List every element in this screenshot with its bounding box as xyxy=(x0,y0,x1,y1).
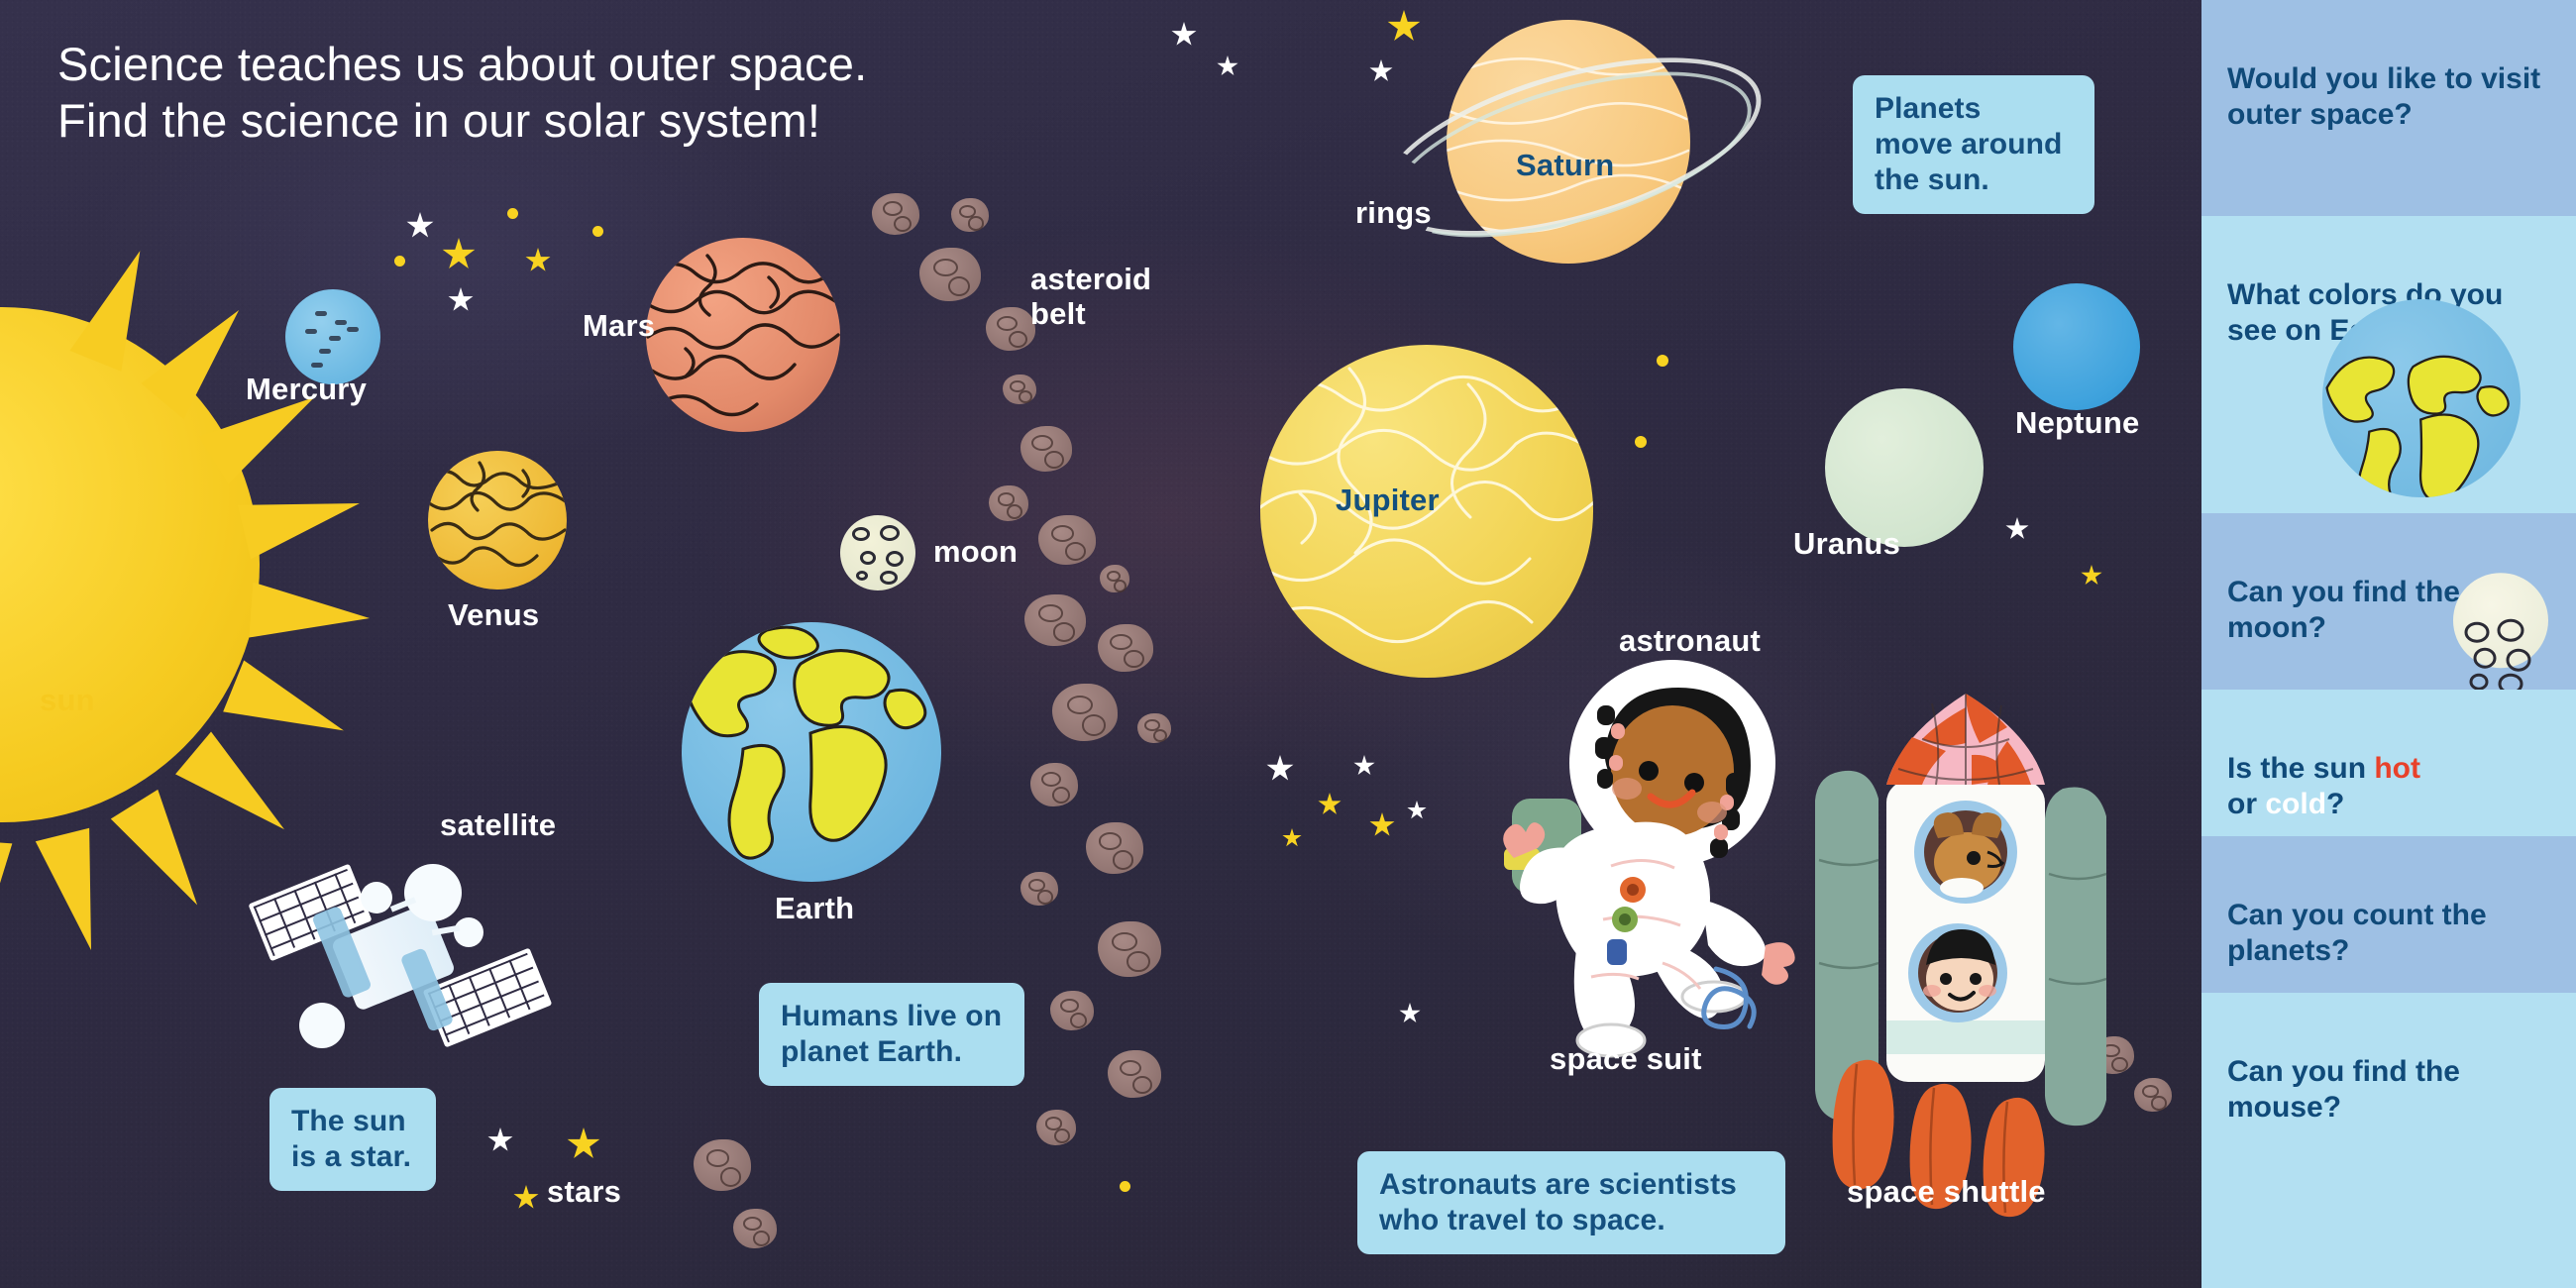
asteroid xyxy=(1108,1050,1161,1098)
asteroid xyxy=(986,307,1035,351)
star-icon xyxy=(1318,793,1342,816)
label-satellite: satellite xyxy=(440,808,556,843)
earth-thumbnail xyxy=(2322,299,2521,497)
label-stars: stars xyxy=(547,1175,621,1210)
sidebar-item-sun-hot-cold[interactable]: Is the sun hot or cold? xyxy=(2201,690,2576,836)
asteroid xyxy=(1050,991,1094,1030)
label-mars: Mars xyxy=(583,309,655,344)
star-icon xyxy=(567,1127,600,1161)
sun-ray xyxy=(36,828,118,957)
questions-sidebar: Would you like to visit outer space? Wha… xyxy=(2201,0,2576,1288)
asteroid xyxy=(733,1209,777,1248)
headline-line-1: Science teaches us about outer space. xyxy=(57,36,867,92)
callout-sun-star: The sun is a star. xyxy=(269,1088,436,1191)
sidebar-question-text: Would you like to visit outer space? xyxy=(2227,62,2540,131)
space-scene: Science teaches us about outer space. Fi… xyxy=(0,0,2201,1288)
asteroid xyxy=(1038,515,1096,565)
page-title: Science teaches us about outer space. Fi… xyxy=(57,36,867,150)
star-icon xyxy=(442,238,476,271)
label-neptune: Neptune xyxy=(2015,406,2139,441)
star-dot xyxy=(592,226,603,237)
asteroid xyxy=(872,193,919,235)
sidebar-question-text: Can you find the mouse? xyxy=(2227,1055,2460,1124)
sun-ray xyxy=(0,839,12,962)
planet-mercury xyxy=(285,289,380,384)
star-dot xyxy=(507,208,518,219)
sidebar-question-text: Is the sun hot or cold? xyxy=(2227,752,2420,820)
star-icon xyxy=(1171,22,1197,48)
label-moon: moon xyxy=(933,535,1018,570)
sidebar-question-text: Can you find the moon? xyxy=(2227,576,2460,644)
asteroid xyxy=(1036,1110,1076,1145)
question-fragment-normal: Is the sun xyxy=(2227,752,2374,785)
star-dot xyxy=(1635,436,1647,448)
label-jupiter: Jupiter xyxy=(1336,483,1440,518)
star-icon xyxy=(1217,55,1238,77)
label-earth: Earth xyxy=(775,892,854,926)
space-shuttle-illustration xyxy=(1813,694,2150,1248)
label-asteroid-belt: asteroid belt xyxy=(1030,263,1151,331)
asteroid xyxy=(1086,822,1143,874)
sidebar-item-visit-space[interactable]: Would you like to visit outer space? xyxy=(2201,0,2576,216)
asteroid xyxy=(1100,565,1129,592)
question-fragment-cold: cold xyxy=(2265,788,2326,820)
label-uranus: Uranus xyxy=(1793,527,1900,562)
label-rings: rings xyxy=(1355,196,1432,231)
star-icon xyxy=(2081,565,2102,587)
asteroid xyxy=(1030,763,1078,806)
planet-venus xyxy=(428,451,567,590)
sun-ray xyxy=(249,583,372,646)
sun-ray xyxy=(69,241,165,372)
star-icon xyxy=(1399,1003,1421,1024)
sidebar-question-text: Can you count the planets? xyxy=(2227,899,2487,967)
satellite-illustration xyxy=(256,858,553,1056)
asteroid xyxy=(1137,713,1171,743)
sidebar-item-find-moon[interactable]: Can you find the moon? xyxy=(2201,513,2576,690)
label-sun: sun xyxy=(40,684,95,718)
star-dot xyxy=(1120,1181,1130,1192)
headline-line-2: Find the science in our solar system! xyxy=(57,92,867,149)
asteroid xyxy=(1052,684,1118,741)
asteroid xyxy=(951,198,989,232)
question-fragment-normal: or xyxy=(2227,788,2265,820)
planet-uranus xyxy=(1825,388,1984,547)
astronaut-illustration xyxy=(1486,654,1813,1070)
sun-ray xyxy=(238,477,367,559)
asteroid xyxy=(1024,594,1086,646)
star-icon xyxy=(1387,10,1421,44)
planet-neptune xyxy=(2013,283,2140,410)
star-icon xyxy=(1282,828,1302,848)
label-saturn: Saturn xyxy=(1516,149,1614,183)
star-icon xyxy=(448,287,474,313)
satellite-dish xyxy=(404,864,462,921)
label-mercury: Mercury xyxy=(246,373,367,407)
asteroid xyxy=(1098,921,1161,977)
moon-thumbnail xyxy=(2453,573,2548,668)
asteroid xyxy=(1020,872,1058,906)
moon-illustration xyxy=(840,515,915,590)
star-icon xyxy=(1266,755,1294,783)
star-icon xyxy=(1353,755,1375,777)
label-space-shuttle: space shuttle xyxy=(1847,1175,2046,1210)
asteroid xyxy=(1020,426,1072,472)
label-astronaut: astronaut xyxy=(1619,624,1761,659)
satellite-sensor xyxy=(454,917,483,947)
asteroid xyxy=(1003,375,1036,404)
star-dot xyxy=(1657,355,1668,367)
callout-planets-orbit: Planets move around the sun. xyxy=(1853,75,2094,214)
star-icon xyxy=(1369,59,1393,83)
sun-ray xyxy=(111,790,221,919)
sidebar-item-count-planets[interactable]: Can you count the planets? xyxy=(2201,836,2576,993)
question-fragment-normal: ? xyxy=(2326,788,2344,820)
star-icon xyxy=(487,1127,513,1153)
sidebar-item-find-mouse[interactable]: Can you find the mouse? xyxy=(2201,993,2576,1288)
satellite-thruster xyxy=(299,1003,345,1048)
asteroid xyxy=(919,248,981,301)
question-fragment-hot: hot xyxy=(2374,752,2420,785)
label-venus: Venus xyxy=(448,598,539,633)
callout-astronauts-scientists: Astronauts are scientists who travel to … xyxy=(1357,1151,1785,1254)
star-dot xyxy=(394,256,405,267)
sidebar-item-earth-colors[interactable]: What colors do you see on Earth? xyxy=(2201,216,2576,513)
callout-humans-earth: Humans live on planet Earth. xyxy=(759,983,1024,1086)
star-icon xyxy=(513,1185,539,1211)
sun-ray xyxy=(223,660,354,756)
star-icon xyxy=(1369,812,1395,838)
star-icon xyxy=(1407,801,1427,820)
star-icon xyxy=(406,212,434,240)
asteroid xyxy=(1098,624,1153,672)
sun-illustration xyxy=(0,248,319,882)
sun-ray xyxy=(175,732,302,851)
planet-earth xyxy=(682,622,941,882)
satellite-sensor xyxy=(361,882,392,913)
asteroid xyxy=(694,1139,751,1191)
star-icon xyxy=(2005,517,2029,541)
space-illustration-page: Science teaches us about outer space. Fi… xyxy=(0,0,2576,1288)
label-space-suit: space suit xyxy=(1550,1042,1702,1077)
star-icon xyxy=(525,248,551,273)
asteroid xyxy=(989,485,1028,521)
planet-mars xyxy=(646,238,840,432)
